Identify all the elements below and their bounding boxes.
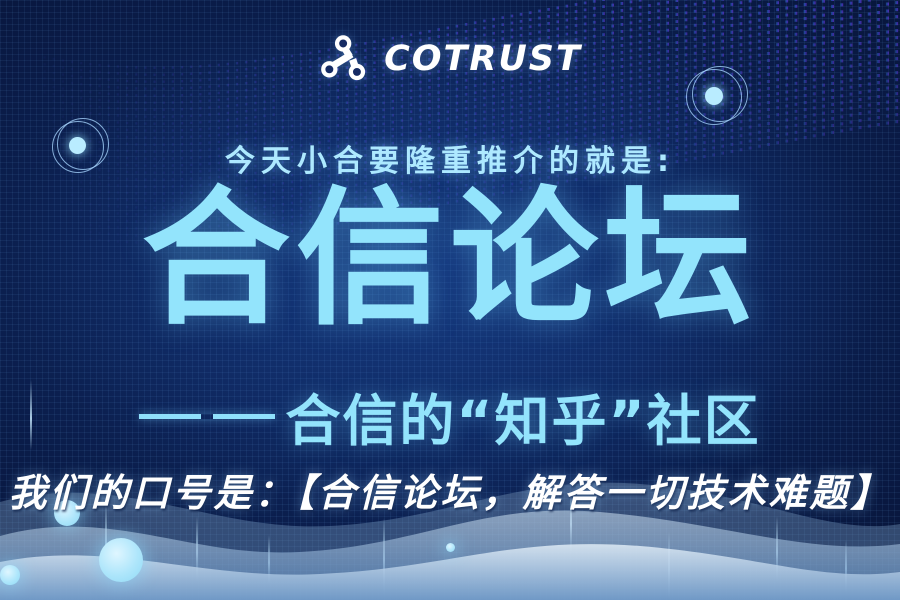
hero-content: 今天小合要隆重推介的就是: 合信论坛 合信的“知乎”社区 我们的口号是：【合信论…: [0, 0, 900, 600]
headline-text: 合信论坛: [0, 185, 900, 333]
subline-text: 合信的“知乎”社区: [285, 376, 760, 456]
subline-row: 合信的“知乎”社区: [0, 376, 900, 456]
tagline-text: 我们的口号是：【合信论坛，解答一切技术难题】: [0, 462, 900, 517]
em-dash-rule: [139, 414, 275, 419]
promo-banner: COTRUST 今天小合要隆重推介的就是: 合信论坛 合信的“知乎”社区 我们的…: [0, 0, 900, 600]
